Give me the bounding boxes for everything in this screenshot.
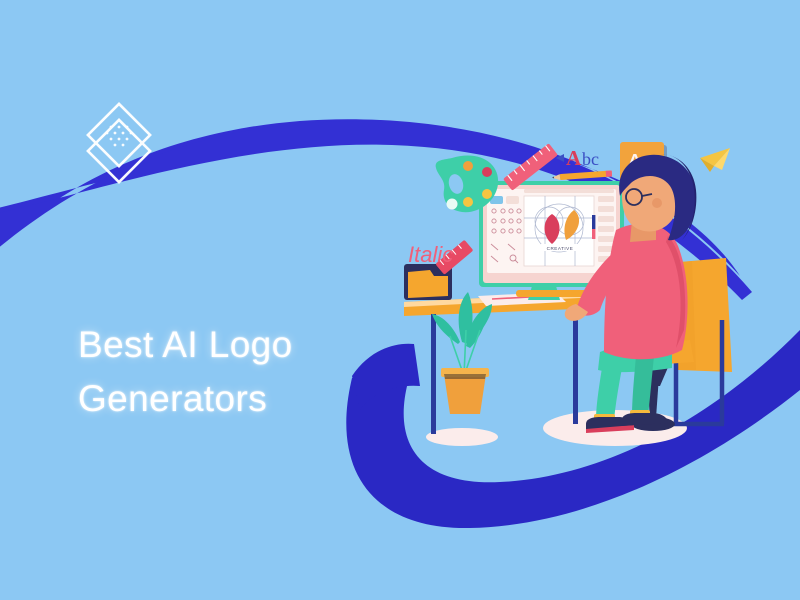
abc-letters-bc: bc bbox=[582, 149, 599, 169]
poster-canvas: Best AI Logo Generators bbox=[0, 0, 800, 600]
paint-dot-orange bbox=[463, 161, 473, 171]
abc-cursor-arrow bbox=[556, 154, 564, 162]
desk-leg-left bbox=[431, 314, 436, 434]
paint-dot-yellow-2 bbox=[463, 197, 473, 207]
italic-label: Italic bbox=[408, 242, 453, 267]
color-slider-pink bbox=[592, 229, 595, 239]
graphic-designer-illustration: CREATIVE bbox=[0, 0, 800, 600]
plant-pot bbox=[444, 374, 486, 414]
monitor-toolbar bbox=[524, 189, 614, 193]
paint-dot-white bbox=[447, 199, 458, 210]
plant-soil bbox=[444, 374, 486, 379]
paint-dot-red bbox=[482, 167, 492, 177]
pencil bbox=[552, 170, 612, 180]
abc-letter-a: A bbox=[566, 146, 582, 170]
tool-panel-header-b bbox=[506, 196, 519, 204]
paper-plane bbox=[700, 148, 730, 172]
logo-caption-text: CREATIVE bbox=[547, 246, 574, 251]
color-slider-blue bbox=[592, 215, 595, 229]
paint-dot-yellow bbox=[482, 189, 492, 199]
person-ear bbox=[652, 198, 662, 208]
desk-leg-right bbox=[573, 306, 578, 424]
floor-rug-plant bbox=[426, 428, 498, 446]
person-shirt bbox=[604, 223, 688, 359]
abc-label: A bc bbox=[556, 146, 599, 170]
